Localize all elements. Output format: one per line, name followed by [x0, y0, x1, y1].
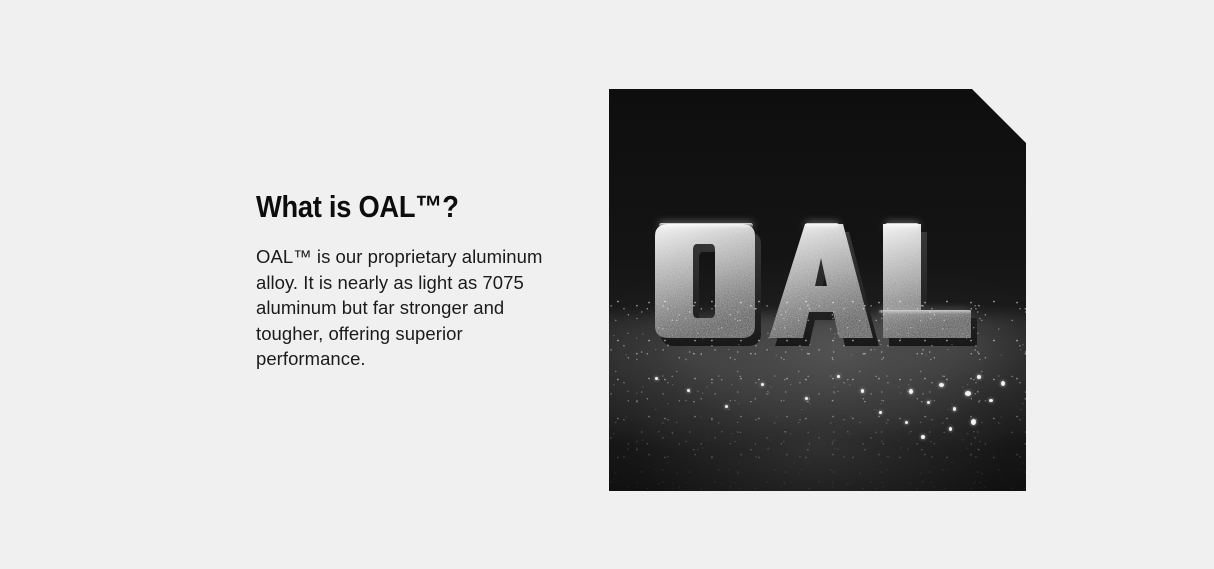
oal-wordmark [653, 222, 993, 342]
feature-section: What is OAL™? OAL™ is our proprietary al… [0, 0, 1214, 569]
description-paragraph: OAL™ is our proprietary aluminum alloy. … [256, 244, 568, 372]
media-panel-wrapper [609, 89, 1026, 491]
page-title: What is OAL™? [256, 190, 538, 224]
text-column: What is OAL™? OAL™ is our proprietary al… [256, 190, 576, 372]
oal-product-image [609, 89, 1026, 491]
